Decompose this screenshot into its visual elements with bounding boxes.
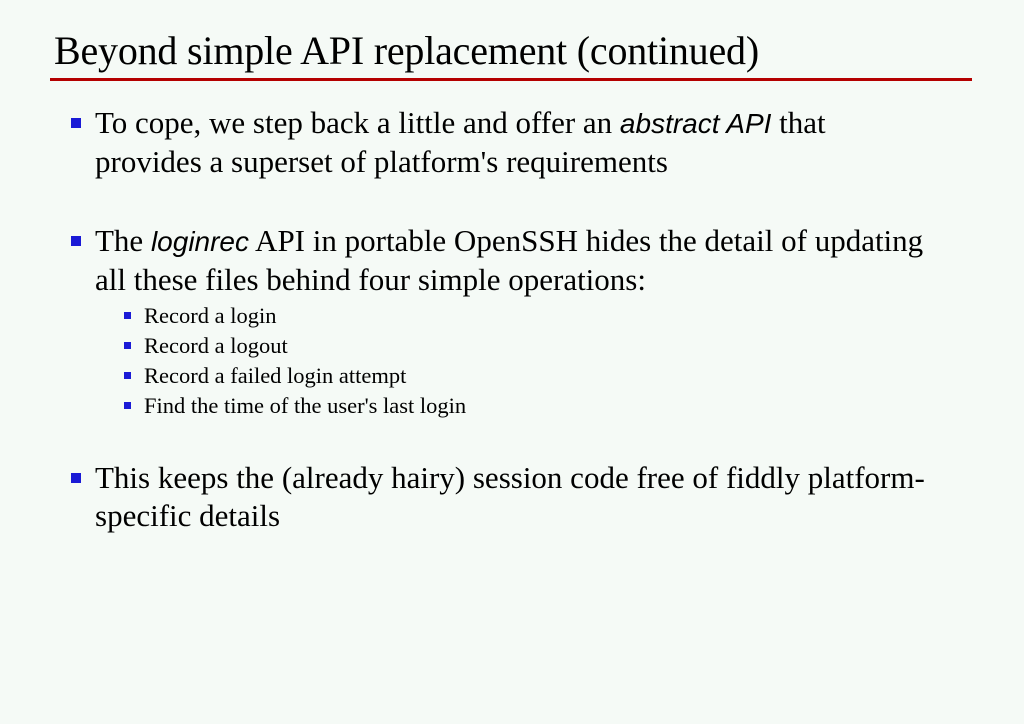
slide-body: To cope, we step back a little and offer… — [0, 104, 1024, 535]
bullet-text-lead: The — [95, 223, 151, 258]
subbullet-item: Record a failed login attempt — [0, 361, 1024, 391]
bullet-text-lead: To cope, we step back a little and offer… — [95, 105, 620, 140]
bullet-square-icon — [71, 236, 81, 246]
bullet-text-emphasis: abstract API — [620, 108, 771, 139]
bullet-square-icon — [71, 473, 81, 483]
subbullet-square-icon — [124, 342, 131, 349]
subbullet-text: Record a logout — [144, 331, 1024, 361]
bullet-item: The loginrec API in portable OpenSSH hid… — [0, 222, 1024, 298]
bullet-item: To cope, we step back a little and offer… — [0, 104, 1024, 180]
bullet-square-icon — [71, 118, 81, 128]
title-underline-rule — [50, 78, 972, 81]
subbullet-item: Record a login — [0, 301, 1024, 331]
subbullet-square-icon — [124, 312, 131, 319]
subbullet-square-icon — [124, 372, 131, 379]
page-title: Beyond simple API replacement (continued… — [50, 28, 972, 78]
bullet-item: This keeps the (already hairy) session c… — [0, 459, 1024, 535]
bullet-text: To cope, we step back a little and offer… — [95, 104, 934, 180]
bullet-text: This keeps the (already hairy) session c… — [95, 459, 934, 535]
subbullet-text: Find the time of the user's last login — [144, 391, 1024, 421]
spacer — [0, 180, 1024, 222]
spacer — [0, 421, 1024, 459]
subbullet-text: Record a login — [144, 301, 1024, 331]
subbullet-list: Record a login Record a logout Record a … — [0, 301, 1024, 421]
bullet-text-emphasis: loginrec — [151, 226, 249, 257]
bullet-text: The loginrec API in portable OpenSSH hid… — [95, 222, 934, 298]
subbullet-square-icon — [124, 402, 131, 409]
slide: Beyond simple API replacement (continued… — [0, 0, 1024, 724]
subbullet-item: Record a logout — [0, 331, 1024, 361]
title-block: Beyond simple API replacement (continued… — [50, 28, 972, 81]
subbullet-item: Find the time of the user's last login — [0, 391, 1024, 421]
subbullet-text: Record a failed login attempt — [144, 361, 1024, 391]
bullet-text-lead: This keeps the (already hairy) session c… — [95, 460, 925, 533]
